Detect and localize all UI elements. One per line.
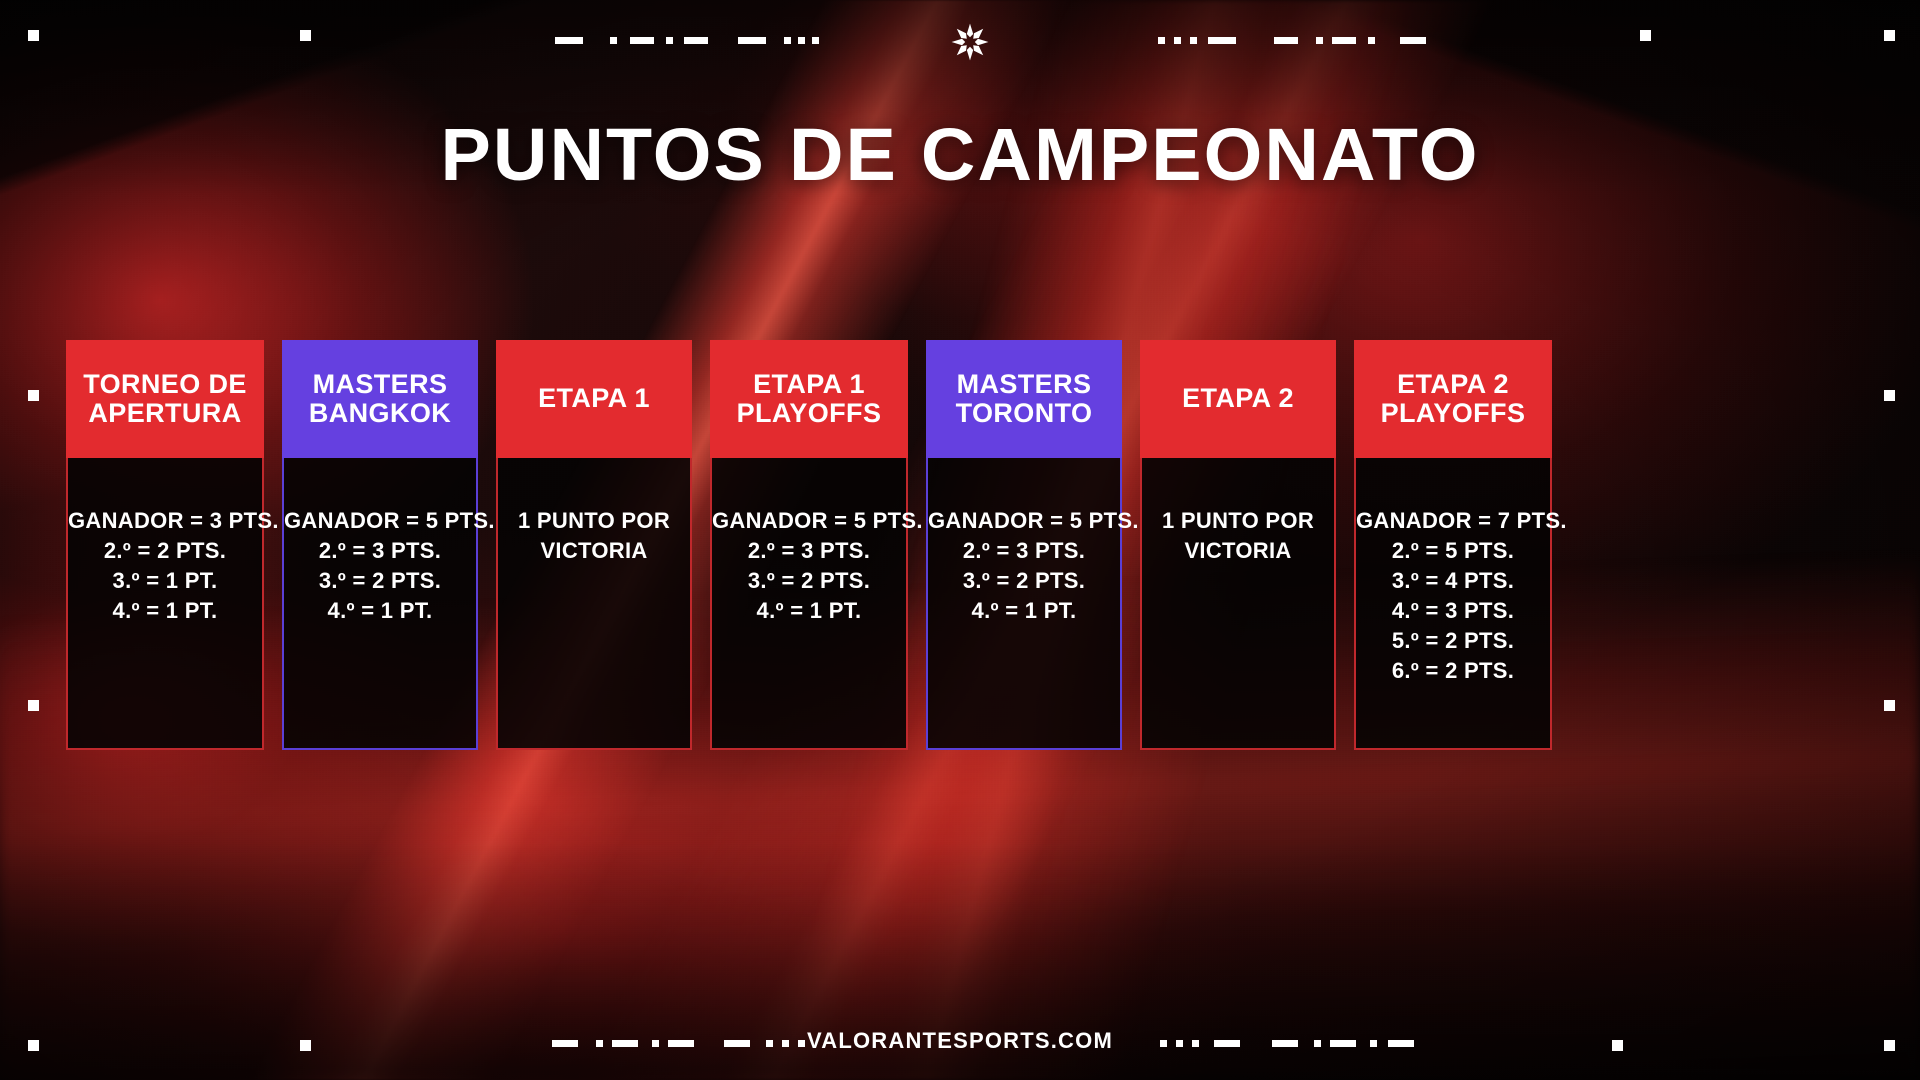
morse-dot-icon [610,37,617,44]
morse-dot-icon [1368,37,1375,44]
points-line: 3.º = 4 PTS. [1356,566,1550,596]
event-card-title-line: PLAYOFFS [1381,399,1526,428]
morse-dot-icon [798,37,805,44]
points-line: GANADOR = 5 PTS. [712,506,906,536]
points-line: 4.º = 1 PT. [712,596,906,626]
event-card: MASTERSTORONTOGANADOR = 5 PTS.2.º = 3 PT… [926,340,1122,750]
points-line: 1 PUNTO POR [498,506,690,536]
morse-dot-icon [1190,37,1197,44]
event-card: ETAPA 1PLAYOFFSGANADOR = 5 PTS.2.º = 3 P… [710,340,908,750]
footer-website-url: VALORANTESPORTS.COM [0,1028,1920,1054]
event-card-title-line: APERTURA [83,399,247,428]
event-card-title-line: MASTERS [309,370,451,399]
morse-dot-icon [1316,37,1323,44]
event-card-title: MASTERSBANGKOK [282,340,478,458]
event-card-points-list: GANADOR = 3 PTS.2.º = 2 PTS.3.º = 1 PT.4… [66,458,264,750]
points-line: 4.º = 1 PT. [928,596,1120,626]
event-card-title: ETAPA 2PLAYOFFS [1354,340,1552,458]
frame-tick-icon [28,30,39,41]
frame-tick-icon [300,30,311,41]
morse-dot-icon [1174,37,1181,44]
points-line: 3.º = 2 PTS. [712,566,906,596]
frame-tick-icon [28,700,39,711]
points-line: 6.º = 2 PTS. [1356,656,1550,686]
points-line: VICTORIA [1142,536,1334,566]
frame-tick-icon [1884,390,1895,401]
event-card-title-line: PLAYOFFS [737,399,882,428]
event-card: ETAPA 11 PUNTO PORVICTORIA [496,340,692,750]
points-line: 5.º = 2 PTS. [1356,626,1550,656]
morse-dash-icon [738,37,766,44]
points-line: 2.º = 3 PTS. [712,536,906,566]
frame-tick-icon [1884,30,1895,41]
event-card-title-line: ETAPA 2 [1381,370,1526,399]
event-card-title-line: BANGKOK [309,399,451,428]
points-line: 2.º = 2 PTS. [68,536,262,566]
points-line: 2.º = 5 PTS. [1356,536,1550,566]
points-line: GANADOR = 5 PTS. [928,506,1120,536]
points-line: GANADOR = 7 PTS. [1356,506,1550,536]
morse-dash-icon [1208,37,1236,44]
frame-tick-icon [28,390,39,401]
morse-dot-icon [784,37,791,44]
event-card-title: MASTERSTORONTO [926,340,1122,458]
points-line: 3.º = 2 PTS. [928,566,1120,596]
morse-dash-icon [1332,37,1356,44]
event-card: ETAPA 2PLAYOFFSGANADOR = 7 PTS.2.º = 5 P… [1354,340,1552,750]
morse-dot-icon [1158,37,1165,44]
event-card-title-line: TORNEO DE [83,370,247,399]
event-card-title-line: MASTERS [956,370,1093,399]
event-card-points-list: 1 PUNTO PORVICTORIA [496,458,692,750]
event-card-title-line: ETAPA 1 [737,370,882,399]
morse-dot-icon [812,37,819,44]
morse-dot-icon [666,37,673,44]
event-card-title-line: TORONTO [956,399,1093,428]
event-card-title: ETAPA 1 [496,340,692,458]
morse-dash-icon [555,37,583,44]
event-card-title: TORNEO DEAPERTURA [66,340,264,458]
morse-dash-icon [684,37,708,44]
event-card: MASTERSBANGKOKGANADOR = 5 PTS.2.º = 3 PT… [282,340,478,750]
event-card-points-list: GANADOR = 5 PTS.2.º = 3 PTS.3.º = 2 PTS.… [926,458,1122,750]
event-card: TORNEO DEAPERTURAGANADOR = 3 PTS.2.º = 2… [66,340,264,750]
points-line: VICTORIA [498,536,690,566]
morse-dash-icon [630,37,654,44]
points-line: 4.º = 1 PT. [284,596,476,626]
points-line: GANADOR = 3 PTS. [68,506,262,536]
points-line: 3.º = 2 PTS. [284,566,476,596]
event-card-points-list: 1 PUNTO PORVICTORIA [1140,458,1336,750]
points-line: 2.º = 3 PTS. [284,536,476,566]
frame-tick-icon [1640,30,1651,41]
points-line: 1 PUNTO POR [1142,506,1334,536]
frame-tick-icon [1884,700,1895,711]
valorant-logo-icon [950,22,990,62]
points-line: 2.º = 3 PTS. [928,536,1120,566]
event-card-title-line: ETAPA 1 [538,384,650,413]
morse-dash-icon [1274,37,1298,44]
event-card-points-list: GANADOR = 5 PTS.2.º = 3 PTS.3.º = 2 PTS.… [282,458,478,750]
points-line: 4.º = 3 PTS. [1356,596,1550,626]
event-card-points-list: GANADOR = 5 PTS.2.º = 3 PTS.3.º = 2 PTS.… [710,458,908,750]
points-line: 4.º = 1 PT. [68,596,262,626]
morse-dash-icon [1400,37,1426,44]
event-card-points-list: GANADOR = 7 PTS.2.º = 5 PTS.3.º = 4 PTS.… [1354,458,1552,750]
points-line: GANADOR = 5 PTS. [284,506,476,536]
championship-points-card-row: TORNEO DEAPERTURAGANADOR = 3 PTS.2.º = 2… [66,340,1854,750]
page-title: PUNTOS DE CAMPEONATO [0,118,1920,192]
event-card-title: ETAPA 2 [1140,340,1336,458]
event-card-title-line: ETAPA 2 [1182,384,1294,413]
event-card: ETAPA 21 PUNTO PORVICTORIA [1140,340,1336,750]
event-card-title: ETAPA 1PLAYOFFS [710,340,908,458]
points-line: 3.º = 1 PT. [68,566,262,596]
